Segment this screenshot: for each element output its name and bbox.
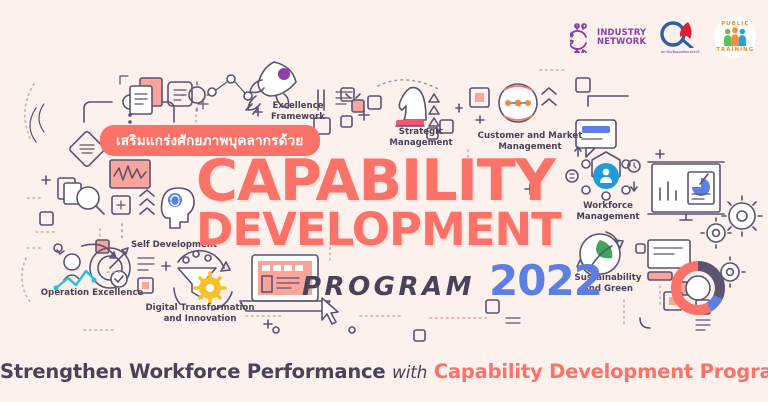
topic-label-digital-transformation: Digital Transformation and Innovation — [140, 303, 260, 324]
logo-line-2: NETWORK — [597, 37, 646, 46]
tagline-lead: Strengthen Workforce Performance — [0, 360, 385, 383]
head-refresh-icon — [112, 188, 194, 240]
capability-development-poster: .ln { fill:none; stroke:#5B5370; stroke-… — [0, 0, 768, 402]
settings-sliders-icon — [168, 82, 210, 111]
subtitle-row: PROGRAM 2022 — [302, 256, 602, 305]
scatter-connector-graphic — [198, 75, 252, 109]
topic-label-workforce-management: Workforce Management — [560, 201, 656, 222]
search-documents-icon — [58, 178, 104, 214]
people-group-icon — [721, 27, 749, 47]
fti-institute-logo[interactable]: สถาบันเพิ่มผลผลิตแห่งชาติ — [658, 20, 702, 54]
public-training-logo[interactable]: PUBLIC TRAINING — [714, 16, 756, 58]
year-label: 2022 — [489, 256, 602, 305]
presentation-chart-icon — [648, 162, 724, 220]
main-headline: CAPABILITY DEVELOPMENT — [196, 155, 561, 251]
funnel-gear-icon — [174, 251, 232, 310]
public-training-top-text: PUBLIC — [714, 21, 756, 27]
people-network-icon — [566, 147, 640, 200]
gear-network-mark-icon — [570, 23, 594, 51]
tagline-highlight: Capability Development Program — [434, 360, 768, 383]
fti-caption: สถาบันเพิ่มผลผลิตแห่งชาติ — [658, 50, 702, 54]
public-training-bottom-text: TRAINING — [714, 47, 756, 53]
topic-label-excellence-framework: Excellence Framework — [253, 101, 343, 122]
dotted-arc-left — [25, 84, 34, 138]
thai-tagline-pill: เสริมแกร่งศักยภาพบุคลากรด้วย — [100, 125, 320, 156]
headline-line-capability: CAPABILITY — [196, 155, 561, 207]
topic-label-strategic-management: Strategic Management — [373, 127, 469, 148]
customer-hub-icon — [456, 84, 556, 123]
industry-network-logo[interactable]: INDUSTRY NETWORK — [570, 23, 646, 51]
headline-line-development: DEVELOPMENT — [196, 209, 561, 250]
topic-label-operation-excellence: Operation Excellence — [37, 288, 147, 299]
bottom-tagline: Strengthen Workforce Performance with Ca… — [0, 360, 768, 383]
program-word: PROGRAM — [302, 272, 475, 302]
tagline-conjunction: with — [392, 363, 427, 383]
pulse-chart-icon — [110, 160, 150, 188]
target-growth-icon — [26, 226, 130, 291]
logo-bar: INDUSTRY NETWORK สถาบันเพิ่มผลผลิตแห่งชา… — [570, 14, 760, 60]
industry-network-wordmark: INDUSTRY NETWORK — [597, 28, 646, 47]
